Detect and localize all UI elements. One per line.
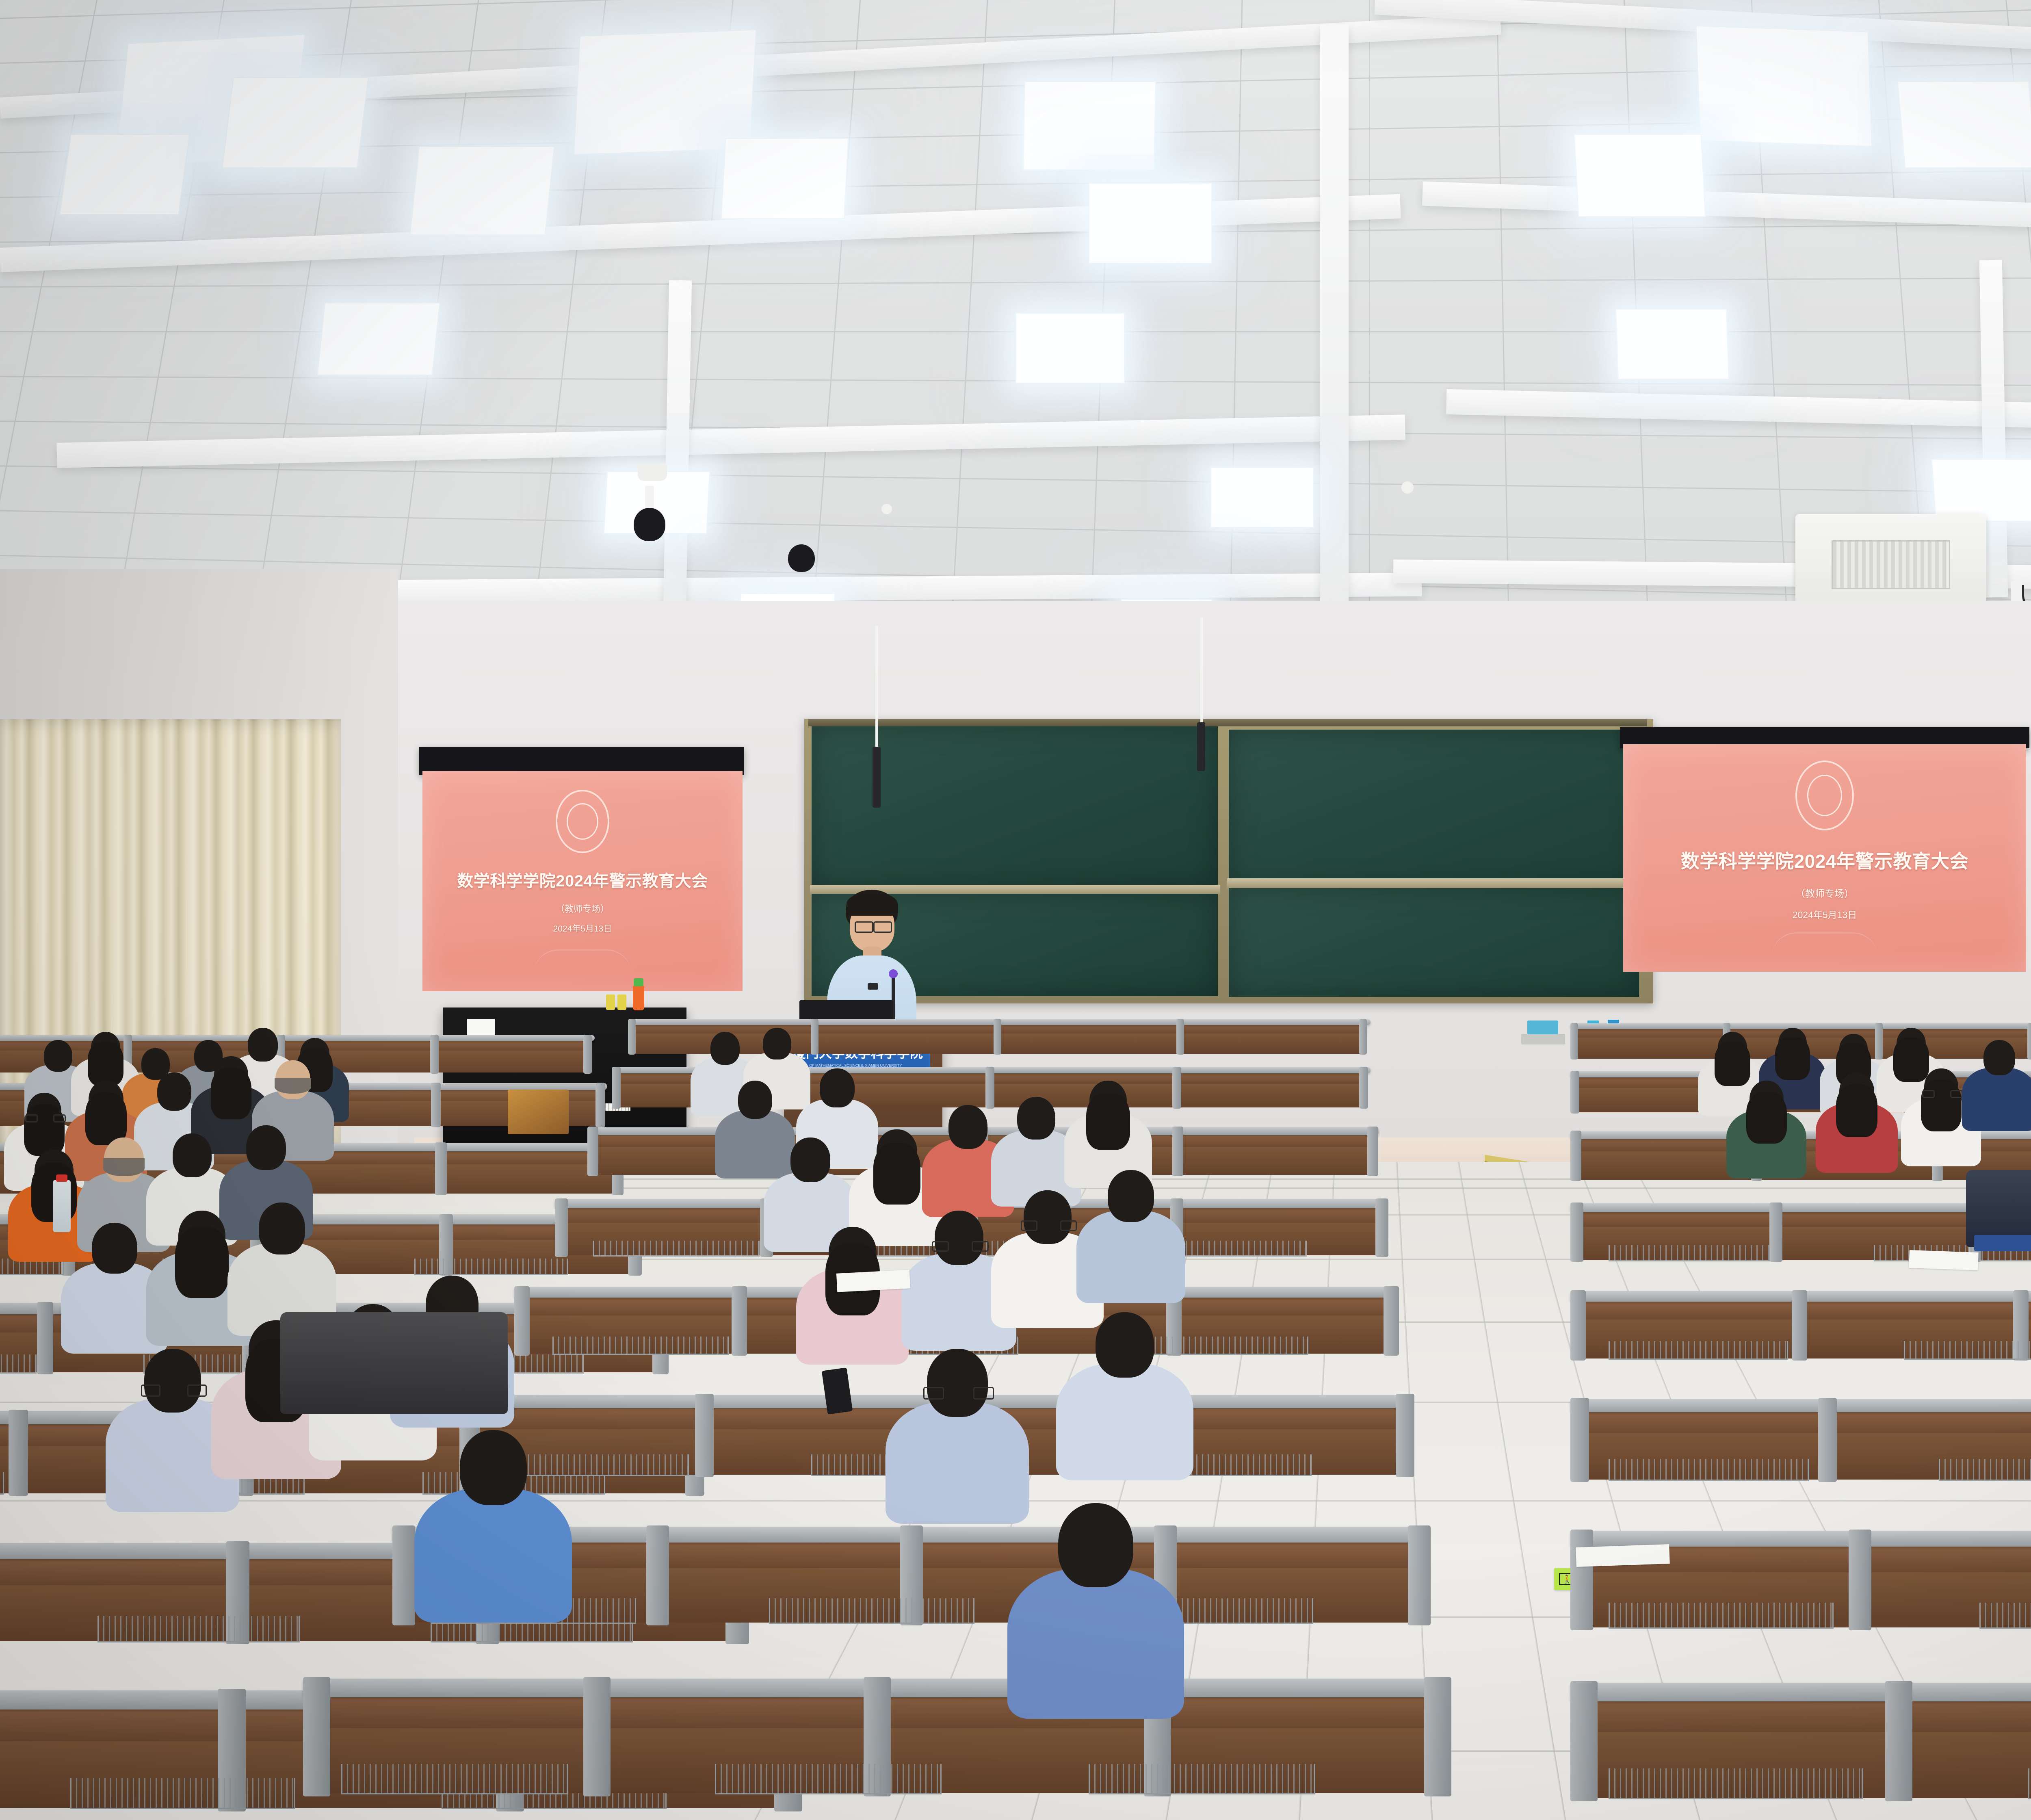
audience-member — [414, 1430, 572, 1639]
handout-paper — [1909, 1250, 1978, 1270]
eyeglasses-icon — [187, 1384, 207, 1397]
backpack — [280, 1312, 508, 1414]
eyeglasses-icon — [1950, 1090, 1963, 1098]
handout-paper — [1576, 1544, 1670, 1567]
eyeglasses-icon — [923, 1387, 944, 1400]
audience-member — [1076, 1170, 1185, 1315]
eyeglasses-icon — [25, 1114, 38, 1122]
water-bottle — [53, 1180, 71, 1232]
audience-member — [1726, 1081, 1806, 1187]
audience-member — [1007, 1503, 1184, 1738]
lecture-hall-photo: 数学科学学院2024年警示教育大会 （教师专场） 2024年5月13日 数学科学… — [0, 0, 2031, 1820]
notebook — [1974, 1235, 2031, 1251]
eyeglasses-icon — [973, 1387, 994, 1400]
eyeglasses-icon — [141, 1384, 160, 1397]
audience-member — [1962, 1040, 2031, 1139]
handout-paper — [836, 1270, 910, 1292]
eyeglasses-icon — [53, 1114, 66, 1122]
audience-member — [1056, 1312, 1193, 1495]
desk-poster — [508, 1090, 569, 1134]
bottle-cap-icon — [56, 1174, 67, 1182]
eyeglasses-icon — [1060, 1220, 1077, 1231]
eyeglasses-icon — [932, 1241, 949, 1252]
audience-member — [1816, 1072, 1898, 1181]
audience — [0, 0, 2031, 1820]
eyeglasses-icon — [972, 1241, 989, 1252]
eyeglasses-icon — [1021, 1220, 1037, 1231]
eyeglasses-icon — [1922, 1090, 1935, 1098]
